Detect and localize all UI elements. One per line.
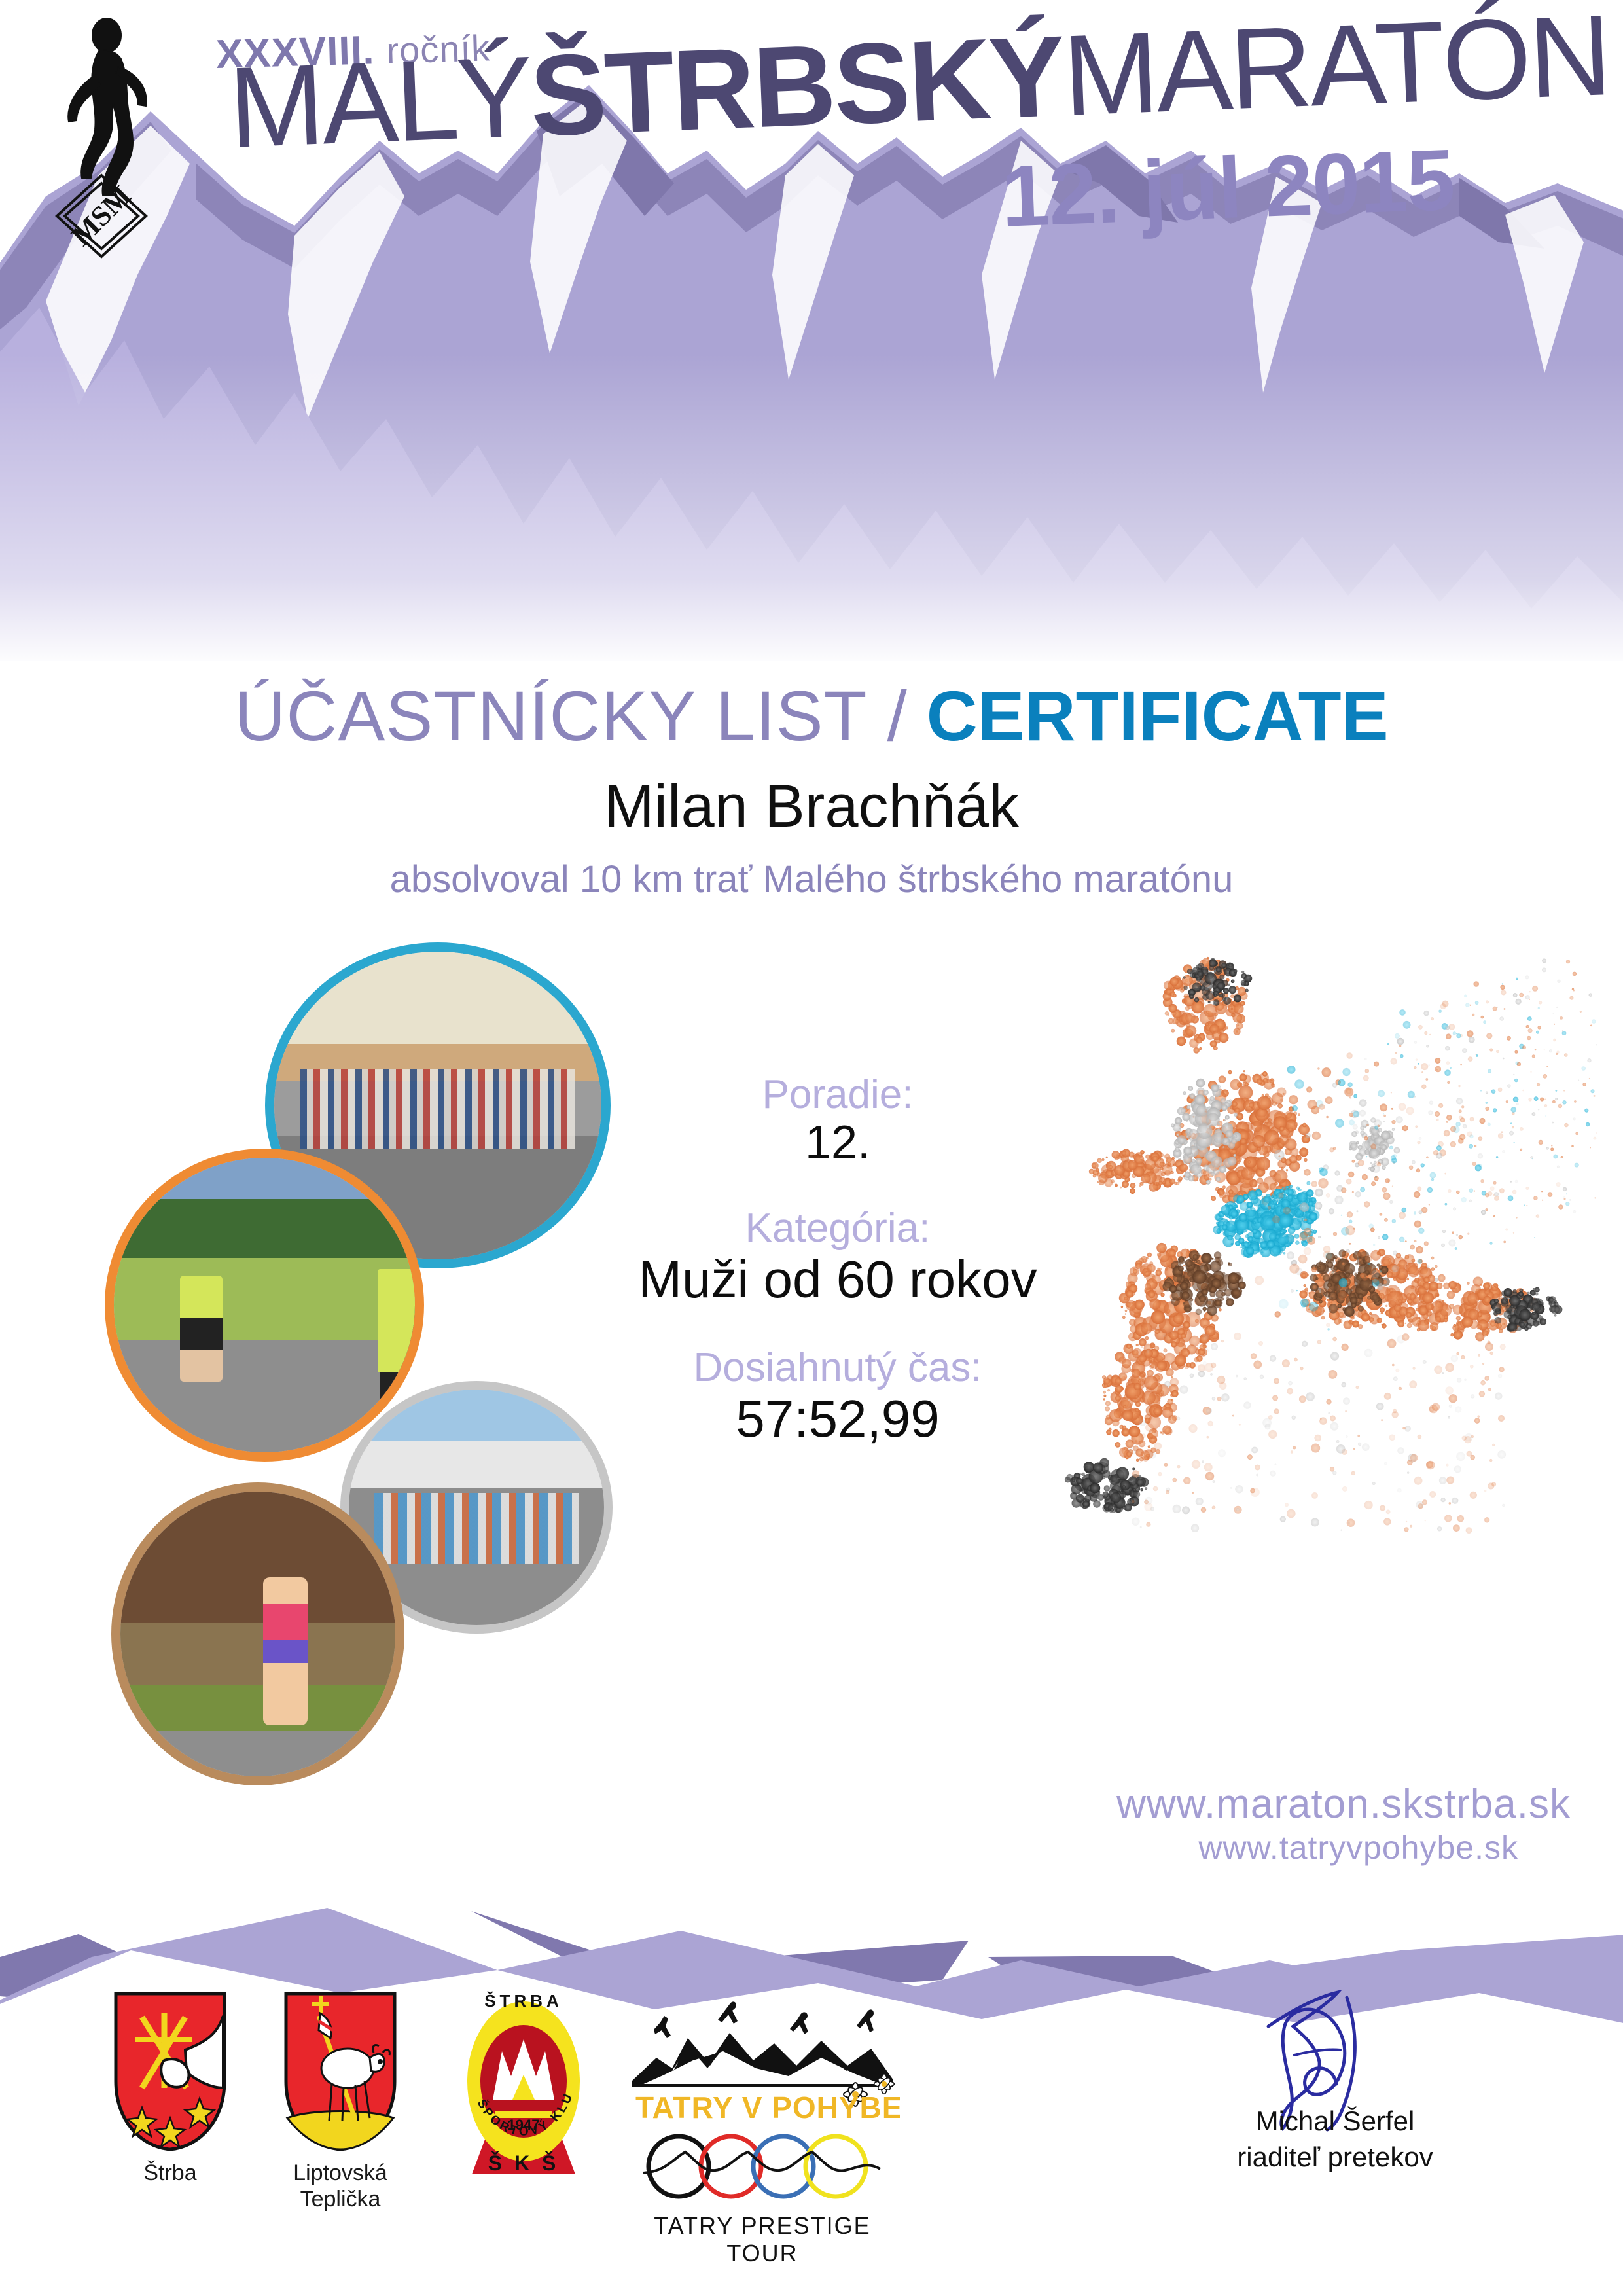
tatry-prestige-tour-rings-icon <box>632 2130 893 2208</box>
photo-woman-runner-image <box>120 1492 395 1776</box>
runner-particle-illustration <box>1008 942 1597 1728</box>
sks-initials: Š K Š <box>488 2151 560 2175</box>
certificate-page: MSM XXXVIII. ročník MALÝŠTRBSKÝMARATÓN 1… <box>0 0 1623 2296</box>
logo-tatry-group: TATRY V POHYBE TATRY PRESTIGE TOUR <box>618 1995 906 2267</box>
logo-sks: ŠTRBA 1947 Š K Š ŠPORTOVÝ KLUB <box>452 1983 596 2186</box>
heading-slovak: ÚČASTNÍCKY LIST <box>234 676 867 755</box>
header: MSM XXXVIII. ročník MALÝŠTRBSKÝMARATÓN 1… <box>0 0 1623 661</box>
logo-strba-caption: Štrba <box>95 2160 245 2186</box>
certificate-heading: ÚČASTNÍCKY LIST / CERTIFICATE <box>0 681 1623 751</box>
msm-logo: MSM <box>36 12 173 260</box>
logo-liptovska-caption-line2: Teplička <box>259 2186 422 2212</box>
heading-separator: / <box>887 676 907 755</box>
url-secondary[interactable]: www.tatryvpohybe.sk <box>785 1828 1571 1867</box>
liptovska-teplicka-coat-of-arms-icon <box>278 1990 402 2153</box>
tatry-v-pohybe-logo-icon: TATRY V POHYBE <box>625 1995 900 2126</box>
title-strbsky: ŠTRBSKÝ <box>527 12 1065 160</box>
strba-coat-of-arms-icon <box>108 1990 232 2153</box>
title-maraton: MARATÓN <box>1061 0 1611 140</box>
sks-club-logo-icon: ŠTRBA 1947 Š K Š ŠPORTOVÝ KLUB <box>455 1983 592 2186</box>
certificate-subtitle: absolvoval 10 km trať Malého štrbského m… <box>0 857 1623 901</box>
website-links: www.maraton.skstrba.sk www.tatryvpohybe.… <box>785 1780 1571 1867</box>
tatry-prestige-tour-caption: TATRY PRESTIGE TOUR <box>618 2212 906 2267</box>
sks-top-text: ŠTRBA <box>484 1991 563 2011</box>
photo-collage <box>85 929 661 1833</box>
footer: Štrba <box>0 1977 1623 2296</box>
photo-woman-runner <box>111 1482 404 1785</box>
tatry-v-pohybe-text: TATRY V POHYBE <box>635 2090 900 2125</box>
logo-liptovska-teplicka: Liptovská Teplička <box>259 1990 422 2212</box>
heading-english: CERTIFICATE <box>927 676 1389 755</box>
logo-strba: Štrba <box>95 1990 245 2186</box>
svg-text:MSM: MSM <box>65 179 137 252</box>
participant-name: Milan Brachňák <box>0 772 1623 841</box>
signature-role: riaditeľ pretekov <box>1152 2140 1518 2176</box>
event-date: 12. júl 2015 <box>999 136 1455 240</box>
logo-liptovska-caption-line1: Liptovská <box>259 2160 422 2186</box>
logo-liptovska-caption: Liptovská Teplička <box>259 2160 422 2212</box>
signature-name: Michal Šerfel <box>1152 2104 1518 2140</box>
signature-block: Michal Šerfel riaditeľ pretekov <box>1152 1983 1518 2175</box>
title-maly: MALÝ <box>226 33 533 172</box>
url-primary[interactable]: www.maraton.skstrba.sk <box>785 1780 1571 1828</box>
